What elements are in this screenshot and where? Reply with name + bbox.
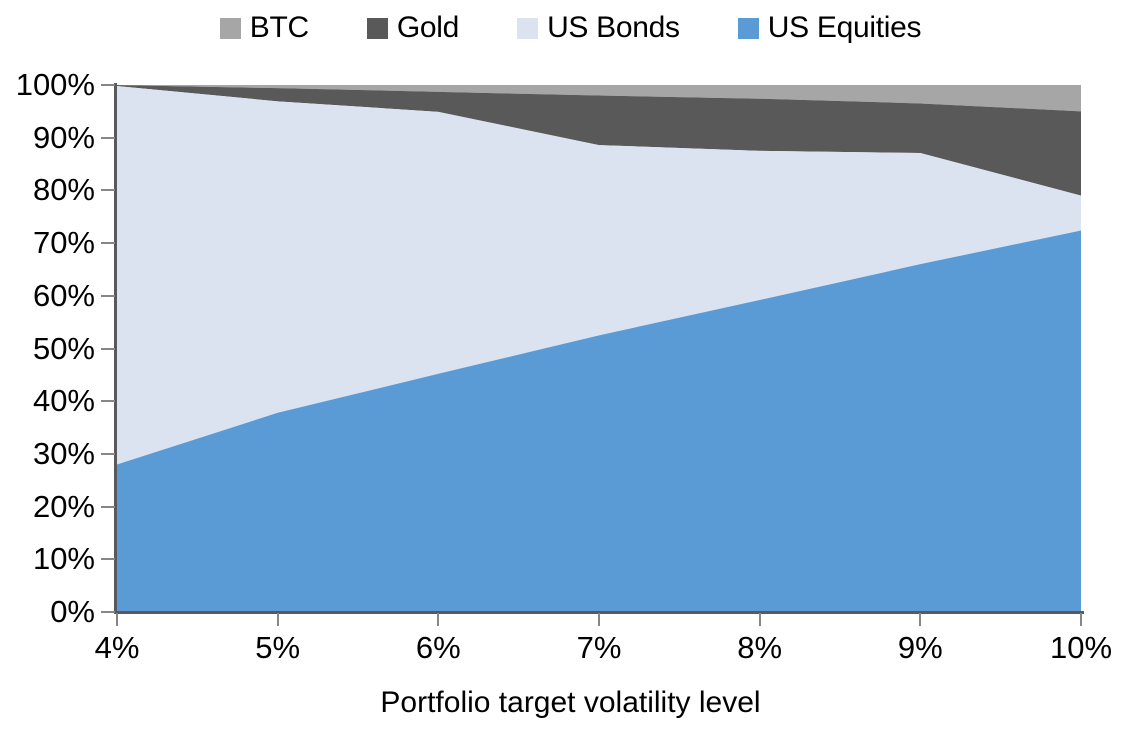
x-axis-tick: [277, 613, 279, 626]
x-axis-tick: [759, 613, 761, 626]
y-axis-tick-label: 60%: [0, 280, 95, 311]
y-axis-tick-label: 40%: [0, 385, 95, 416]
y-axis-tick: [101, 189, 115, 191]
x-axis-tick: [116, 613, 118, 626]
y-axis-tick: [101, 137, 115, 139]
x-axis-tick: [1080, 613, 1082, 626]
y-axis-tick: [101, 611, 115, 613]
y-axis-tick-label: 80%: [0, 174, 95, 205]
y-axis-tick-label: 30%: [0, 438, 95, 469]
legend-label-us-bonds: US Bonds: [547, 13, 680, 43]
y-axis-tick-label: 70%: [0, 227, 95, 258]
x-axis-tick-label: 7%: [539, 632, 659, 663]
legend-item-us-equities[interactable]: US Equities: [738, 13, 921, 43]
y-axis-tick: [101, 558, 115, 560]
legend-square-icon: [738, 18, 759, 39]
y-axis-tick: [101, 453, 115, 455]
x-axis-tick-label: 4%: [57, 632, 177, 663]
legend-label-gold: Gold: [397, 13, 459, 43]
legend-item-us-bonds[interactable]: US Bonds: [517, 13, 680, 43]
y-axis-tick-label: 20%: [0, 491, 95, 522]
y-axis-tick-label: 50%: [0, 333, 95, 364]
x-axis-tick-label: 6%: [378, 632, 498, 663]
chart-legend: BTC Gold US Bonds US Equities: [0, 6, 1141, 50]
y-axis-tick-label: 100%: [0, 69, 95, 100]
legend-item-btc[interactable]: BTC: [220, 13, 309, 43]
plot-area: [117, 85, 1081, 612]
series-layer: [117, 85, 1081, 612]
legend-label-btc: BTC: [250, 13, 309, 43]
legend-square-icon: [517, 18, 538, 39]
y-axis-tick: [101, 295, 115, 297]
x-axis-tick-label: 5%: [218, 632, 338, 663]
x-axis-tick: [598, 613, 600, 626]
y-axis-tick: [101, 242, 115, 244]
x-axis-tick-label: 8%: [700, 632, 820, 663]
y-axis-tick: [101, 400, 115, 402]
y-axis-tick: [101, 348, 115, 350]
y-axis-tick-label: 90%: [0, 122, 95, 153]
y-axis-tick: [101, 84, 115, 86]
x-axis-tick-label: 9%: [860, 632, 980, 663]
y-axis-tick-label: 10%: [0, 543, 95, 574]
x-axis-tick: [919, 613, 921, 626]
x-axis-tick-label: 10%: [1021, 632, 1141, 663]
y-axis-tick-label: 0%: [0, 596, 95, 627]
legend-item-gold[interactable]: Gold: [367, 13, 459, 43]
x-axis-title: Portfolio target volatility level: [0, 688, 1141, 718]
y-axis-tick: [101, 506, 115, 508]
legend-square-icon: [367, 18, 388, 39]
x-axis-tick: [437, 613, 439, 626]
legend-square-icon: [220, 18, 241, 39]
legend-label-us-equities: US Equities: [768, 13, 921, 43]
stacked-area-chart: BTC Gold US Bonds US Equities 100%90%80%…: [0, 0, 1141, 742]
